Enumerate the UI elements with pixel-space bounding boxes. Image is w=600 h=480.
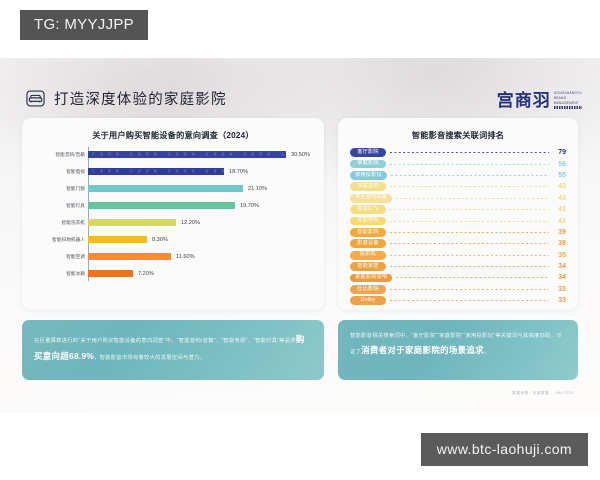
keyword-leader-dots bbox=[396, 277, 549, 278]
bar-row: 智能空调11.60% bbox=[88, 248, 310, 265]
header-left-group: 打造深度体验的家庭影院 bbox=[26, 88, 227, 109]
bar-value-label: 18.70% bbox=[229, 169, 248, 175]
keyword-value: 43 bbox=[553, 195, 566, 202]
keyword-row: 客厅影院79 bbox=[350, 147, 566, 158]
bar-ghost-watermark: 巨量算数 巨量算数 巨量算数 巨量算数 巨量算数 巨量算数 bbox=[88, 168, 224, 176]
bar-chart-title: 关于用户购买智能设备的意向调查（2024） bbox=[32, 129, 314, 141]
footnote: 数据来源：巨量算数 NH-2221 bbox=[512, 391, 574, 396]
keyword-leader-dots bbox=[390, 221, 549, 222]
keyword-value: 79 bbox=[553, 149, 566, 156]
keyword-row: 专业音响设备43 bbox=[350, 193, 566, 204]
bar-category-label: 智能音响/音箱 bbox=[32, 152, 85, 158]
keyword-ranking-card: 智能影音搜索关联词排名 客厅影院79家庭影院56家用投影仪55家庭音响43专业音… bbox=[338, 118, 578, 310]
note-right-strong: 消费者对于家庭影 bbox=[361, 345, 431, 355]
bar-category-label: 智能灯具 bbox=[32, 203, 85, 209]
keyword-pill: 智能影院 bbox=[350, 228, 386, 237]
keyword-leader-dots bbox=[390, 255, 549, 256]
note-left-text-2: “智能电视”、“智能灯具”等品类 bbox=[221, 338, 296, 344]
keyword-row: 影音设备38 bbox=[350, 238, 566, 249]
bar-value-label: 21.10% bbox=[248, 186, 267, 192]
brand-en-line2: BRAND bbox=[554, 97, 582, 100]
keyword-pill: 影音设备 bbox=[350, 239, 386, 248]
bar-chart-plot: 智能音响/音箱巨量算数 巨量算数 巨量算数 巨量算数 巨量算数 巨量算数 30.… bbox=[32, 146, 314, 282]
keyword-value: 41 bbox=[553, 218, 566, 225]
bar-track: 7.20% bbox=[88, 270, 310, 278]
keyword-pill: 智能电视 bbox=[350, 217, 386, 226]
page-title: 打造深度体验的家庭影院 bbox=[54, 88, 227, 109]
keyword-pill: 智能家居 bbox=[350, 262, 386, 271]
keyword-value: 34 bbox=[553, 274, 566, 281]
brand-logo: 宫商羽 GONGSHANGYU BRAND MANAGEMENT bbox=[497, 86, 582, 111]
keyword-value: 35 bbox=[553, 252, 566, 259]
keyword-value: 33 bbox=[553, 297, 566, 304]
bar-category-label: 智能冰箱 bbox=[32, 271, 85, 277]
keyword-leader-dots bbox=[390, 243, 549, 244]
insight-note-right: 智能影音相关搜索词中，“客厅影院”“家庭影院”“家用投影仪”等关键词与其高度匹配… bbox=[338, 320, 578, 380]
bar bbox=[88, 202, 235, 210]
keyword-pill: 家用投影仪 bbox=[350, 171, 387, 180]
keyword-row: 家庭KTV41 bbox=[350, 204, 566, 215]
bar-row: 智能门锁21.10% bbox=[88, 180, 310, 197]
site-watermark: www.btc-laohuji.com bbox=[421, 433, 588, 466]
bar-row: 智能灯具19.70% bbox=[88, 197, 310, 214]
keyword-ranking-title: 智能影音搜索关联词排名 bbox=[348, 129, 568, 141]
bar: 巨量算数 巨量算数 巨量算数 巨量算数 巨量算数 巨量算数 bbox=[88, 151, 286, 159]
bar bbox=[88, 270, 133, 278]
bar-row: 智能音响/音箱巨量算数 巨量算数 巨量算数 巨量算数 巨量算数 巨量算数 30.… bbox=[88, 146, 310, 163]
keyword-value: 39 bbox=[553, 229, 566, 236]
bar bbox=[88, 185, 243, 193]
bar-value-label: 7.20% bbox=[138, 271, 154, 277]
keyword-pill: Dolby bbox=[350, 296, 386, 305]
slide-header: 打造深度体验的家庭影院 宫商羽 GONGSHANGYU BRAND MANAGE… bbox=[26, 86, 582, 111]
insight-notes: 在巨量算数进行的“关于用户购买智能设备的意向调查”中，“智能音响/音箱”、“智能… bbox=[22, 320, 578, 380]
keyword-row: 智能电视41 bbox=[350, 215, 566, 226]
keyword-leader-dots bbox=[390, 186, 549, 187]
note-left-text-4: 大的发展空间与潜力。 bbox=[150, 355, 205, 361]
keyword-pill: 家庭音响 bbox=[350, 182, 386, 191]
keyword-leader-dots bbox=[390, 164, 549, 165]
keyword-row: 家用投影仪55 bbox=[350, 170, 566, 181]
bar-track: 巨量算数 巨量算数 巨量算数 巨量算数 巨量算数 巨量算数 30.50% bbox=[88, 151, 310, 159]
note-right-strong-2: 院的场景追求 bbox=[431, 345, 484, 355]
keyword-pill: 杜比影院 bbox=[350, 285, 386, 294]
bar-row: 智能冰箱7.20% bbox=[88, 265, 310, 282]
bar-track: 巨量算数 巨量算数 巨量算数 巨量算数 巨量算数 巨量算数 18.70% bbox=[88, 168, 310, 176]
keyword-row: 家庭音响43 bbox=[350, 181, 566, 192]
insight-note-left: 在巨量算数进行的“关于用户购买智能设备的意向调查”中，“智能音响/音箱”、“智能… bbox=[22, 320, 324, 380]
keyword-row: 家庭影院音响34 bbox=[350, 272, 566, 283]
keyword-leader-dots bbox=[391, 175, 549, 176]
keyword-row: 家庭影院56 bbox=[350, 158, 566, 169]
keyword-leader-dots bbox=[390, 300, 549, 301]
chart-cards: 关于用户购买智能设备的意向调查（2024） 智能音响/音箱巨量算数 巨量算数 巨… bbox=[22, 118, 578, 310]
bar-category-label: 智能电视 bbox=[32, 169, 85, 175]
bar-track: 19.70% bbox=[88, 202, 310, 210]
keyword-value: 41 bbox=[553, 206, 566, 213]
keyword-value: 56 bbox=[553, 161, 566, 168]
sofa-icon bbox=[26, 89, 45, 108]
keyword-row: 杜比影院33 bbox=[350, 284, 566, 295]
keyword-pill: 客厅影院 bbox=[350, 148, 386, 157]
brand-name-en: GONGSHANGYU BRAND MANAGEMENT bbox=[554, 92, 582, 111]
keyword-pill: 专业音响设备 bbox=[350, 194, 392, 203]
keyword-pill: 投影机 bbox=[350, 251, 386, 260]
keyword-leader-dots bbox=[390, 152, 549, 153]
note-left-text-1: 在巨量算数进行的“关于用户购买智能设备的意向调查”中，“智能音响/音箱”、 bbox=[34, 338, 221, 344]
keyword-leader-dots bbox=[390, 289, 549, 290]
bar-value-label: 12.20% bbox=[181, 220, 200, 226]
keyword-pill: 家庭影院 bbox=[350, 160, 386, 169]
bar-value-label: 19.70% bbox=[240, 203, 259, 209]
keyword-leader-dots bbox=[390, 266, 549, 267]
bar-track: 21.10% bbox=[88, 185, 310, 193]
bar-value-label: 11.60% bbox=[176, 254, 195, 260]
keyword-leader-dots bbox=[396, 198, 549, 199]
brand-name-cn: 宫商羽 bbox=[497, 86, 551, 111]
note-right-text-3: 。 bbox=[484, 349, 490, 355]
bar bbox=[88, 253, 171, 261]
bar bbox=[88, 236, 147, 244]
bar-row: 智能扫地机器人8.30% bbox=[88, 231, 310, 248]
footnote-source: 数据来源：巨量算数 bbox=[512, 391, 549, 396]
bar-row: 智能电视巨量算数 巨量算数 巨量算数 巨量算数 巨量算数 巨量算数 18.70% bbox=[88, 163, 310, 180]
keyword-row: 智能家居34 bbox=[350, 261, 566, 272]
bar-category-label: 智能洗衣机 bbox=[32, 220, 85, 226]
bar-track: 8.30% bbox=[88, 236, 310, 244]
brand-en-line3: MANAGEMENT bbox=[554, 102, 582, 105]
note-left-percent: 68.9% bbox=[69, 351, 94, 361]
bar-track: 12.20% bbox=[88, 219, 310, 227]
keyword-leader-dots bbox=[390, 232, 549, 233]
note-right-text-1: 智能影音相关搜索词中，“客厅影院”“家庭影院”“家用投影 bbox=[350, 333, 488, 339]
keyword-value: 55 bbox=[553, 172, 566, 179]
footnote-code: NH-2221 bbox=[556, 391, 574, 396]
keyword-value: 34 bbox=[553, 263, 566, 270]
keyword-pill: 家庭影院音响 bbox=[350, 274, 392, 283]
keyword-value: 33 bbox=[553, 286, 566, 293]
bar-chart-card: 关于用户购买智能设备的意向调查（2024） 智能音响/音箱巨量算数 巨量算数 巨… bbox=[22, 118, 324, 310]
bar-row: 智能洗衣机12.20% bbox=[88, 214, 310, 231]
keyword-value: 43 bbox=[553, 183, 566, 190]
keyword-row: Dolby33 bbox=[350, 295, 566, 306]
bar bbox=[88, 219, 176, 227]
bar-category-label: 智能门锁 bbox=[32, 186, 85, 192]
keyword-value: 38 bbox=[553, 240, 566, 247]
telegram-watermark: TG: MYYJJPP bbox=[20, 10, 148, 40]
bar-category-label: 智能空调 bbox=[32, 254, 85, 260]
note-left-text-3: ，智能影音市场有着较 bbox=[94, 355, 149, 361]
bar-value-label: 8.30% bbox=[152, 237, 168, 243]
bar: 巨量算数 巨量算数 巨量算数 巨量算数 巨量算数 巨量算数 bbox=[88, 168, 224, 176]
keyword-leader-dots bbox=[390, 209, 549, 210]
keyword-ranking-list: 客厅影院79家庭影院56家用投影仪55家庭音响43专业音响设备43家庭KTV41… bbox=[348, 146, 568, 306]
keyword-row: 智能影院39 bbox=[350, 227, 566, 238]
keyword-row: 投影机35 bbox=[350, 250, 566, 261]
keyword-pill: 家庭KTV bbox=[350, 205, 386, 214]
slide-canvas: 打造深度体验的家庭影院 宫商羽 GONGSHANGYU BRAND MANAGE… bbox=[0, 58, 600, 414]
bar-category-label: 智能扫地机器人 bbox=[32, 237, 85, 243]
bar-ghost-watermark: 巨量算数 巨量算数 巨量算数 巨量算数 巨量算数 巨量算数 bbox=[88, 151, 286, 159]
brand-divider bbox=[554, 106, 582, 109]
bar-value-label: 30.50% bbox=[291, 152, 310, 158]
bar-track: 11.60% bbox=[88, 253, 310, 261]
